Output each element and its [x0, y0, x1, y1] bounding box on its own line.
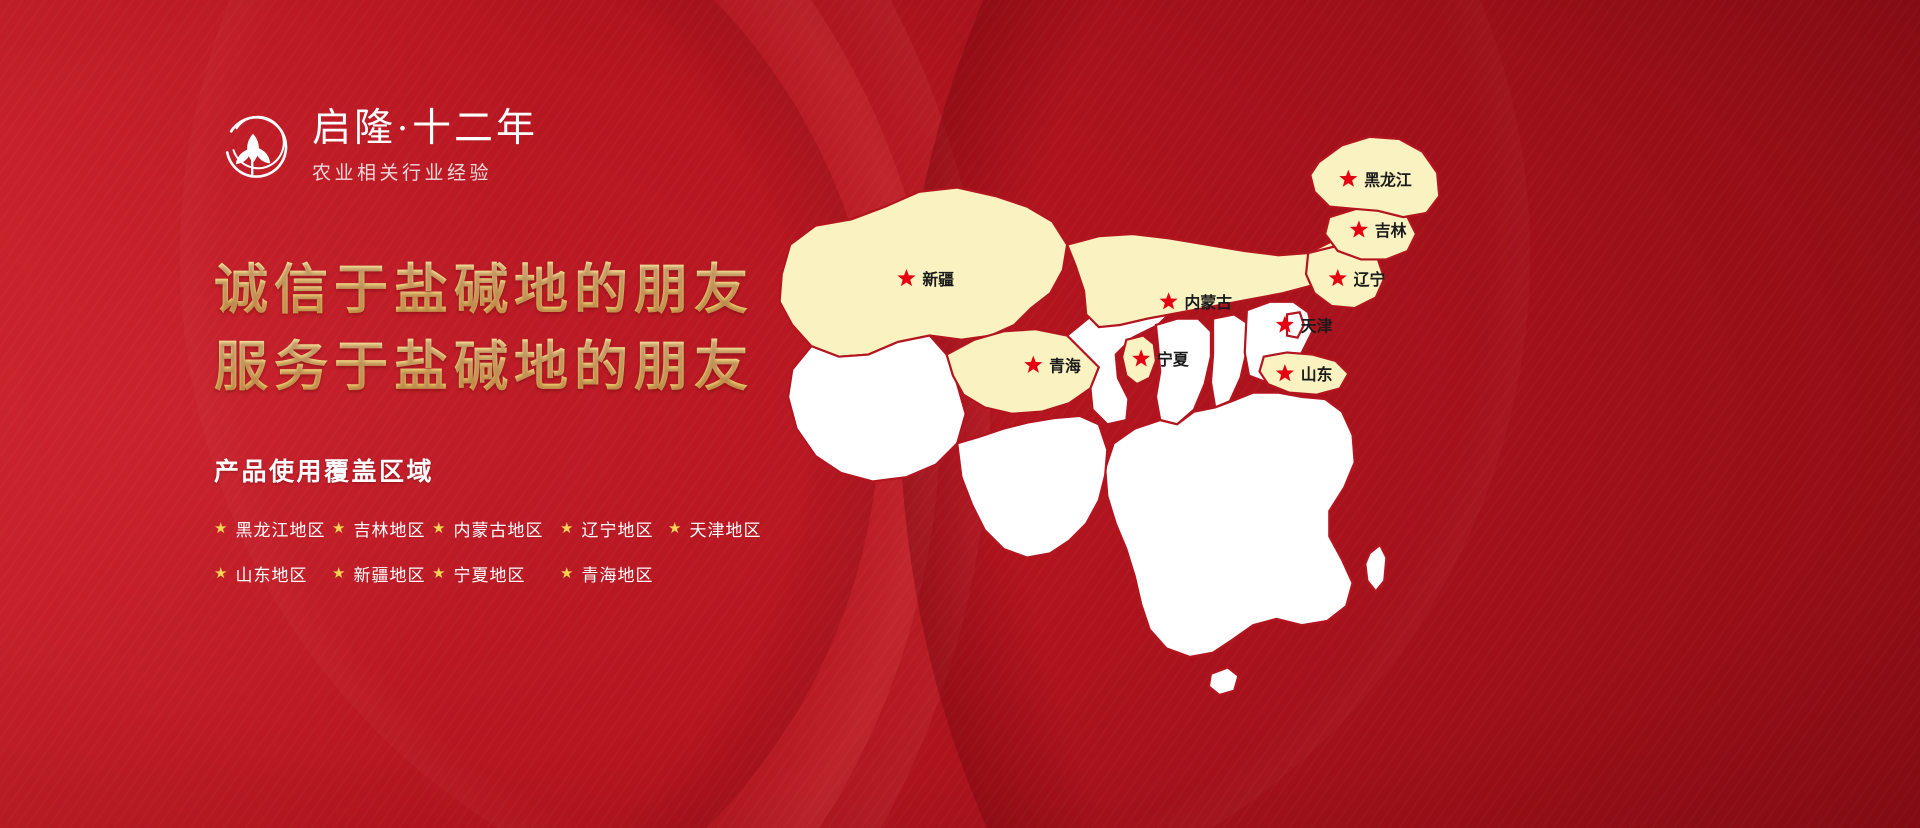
map-province-label: 新疆 [922, 270, 954, 289]
province-hainan [1209, 667, 1239, 694]
coverage-region-label: 辽宁地区 [581, 516, 653, 541]
coverage-section: 产品使用覆盖区域 ★黑龙江地区★吉林地区★内蒙古地区★辽宁地区★天津地区★山东地… [214, 452, 778, 586]
star-icon: ★ [432, 521, 445, 536]
coverage-region-label: 内蒙古地区 [453, 516, 543, 541]
coverage-region-item[interactable]: ★吉林地区 [332, 516, 432, 541]
map-province-label: 吉林 [1375, 221, 1407, 240]
china-map: 黑龙江吉林辽宁天津山东内蒙古宁夏新疆青海 [740, 48, 1500, 788]
map-province-label: 山东 [1301, 365, 1333, 384]
map-province-label: 内蒙古 [1184, 293, 1232, 312]
coverage-region-label: 吉林地区 [353, 516, 425, 541]
brand-logo-row: 启隆·十二年 农业相关行业经验 [214, 108, 538, 186]
headline-line-2: 服务于盐碱地的朋友 [214, 329, 754, 406]
brand-subtitle: 农业相关行业经验 [312, 158, 538, 185]
province-taiwan [1365, 545, 1386, 592]
brand-title: 启隆·十二年 [312, 109, 538, 150]
star-icon: ★ [432, 566, 445, 581]
coverage-region-item[interactable]: ★辽宁地区 [560, 516, 668, 541]
map-province-label: 黑龙江 [1364, 170, 1412, 189]
star-icon: ★ [214, 521, 227, 536]
coverage-region-label: 新疆地区 [353, 561, 425, 586]
coverage-region-item[interactable]: ★宁夏地区 [432, 561, 560, 586]
star-icon: ★ [560, 521, 573, 536]
province-southwest-china [957, 416, 1107, 558]
coverage-region-item[interactable]: ★黑龙江地区 [214, 516, 332, 541]
star-icon: ★ [332, 566, 345, 581]
map-province-label: 辽宁 [1354, 270, 1386, 289]
province-shaanxi [1156, 319, 1211, 425]
province-tibet [788, 336, 966, 482]
coverage-title: 产品使用覆盖区域 [214, 452, 778, 488]
map-province-label: 天津 [1301, 317, 1333, 335]
map-province-label: 宁夏 [1157, 350, 1189, 369]
coverage-region-label: 山东地区 [235, 561, 307, 586]
coverage-region-item[interactable]: ★新疆地区 [332, 561, 432, 586]
star-icon: ★ [560, 566, 573, 581]
coverage-region-item[interactable]: ★青海地区 [560, 561, 668, 586]
map-province-label: 青海 [1049, 356, 1081, 375]
province-central-south-china [1105, 393, 1354, 657]
coverage-region-label: 宁夏地区 [453, 561, 525, 586]
province-shanxi [1211, 314, 1247, 407]
coverage-region-item[interactable]: ★山东地区 [214, 561, 332, 586]
brand-text-block: 启隆·十二年 农业相关行业经验 [312, 109, 538, 186]
headline-block: 诚信于盐碱地的朋友 服务于盐碱地的朋友 [214, 252, 754, 405]
coverage-region-item[interactable]: ★内蒙古地区 [432, 516, 560, 541]
promo-banner: 启隆·十二年 农业相关行业经验 诚信于盐碱地的朋友 服务于盐碱地的朋友 产品使用… [0, 0, 1920, 828]
coverage-region-label: 黑龙江地区 [235, 516, 325, 541]
headline-line-1: 诚信于盐碱地的朋友 [214, 252, 754, 329]
star-icon: ★ [332, 521, 345, 536]
coverage-region-list: ★黑龙江地区★吉林地区★内蒙古地区★辽宁地区★天津地区★山东地区★新疆地区★宁夏… [214, 516, 778, 586]
coverage-region-label: 青海地区 [581, 561, 653, 586]
star-icon: ★ [668, 521, 681, 536]
star-icon: ★ [214, 566, 227, 581]
lotus-leaf-circle-logo-icon [214, 108, 292, 186]
